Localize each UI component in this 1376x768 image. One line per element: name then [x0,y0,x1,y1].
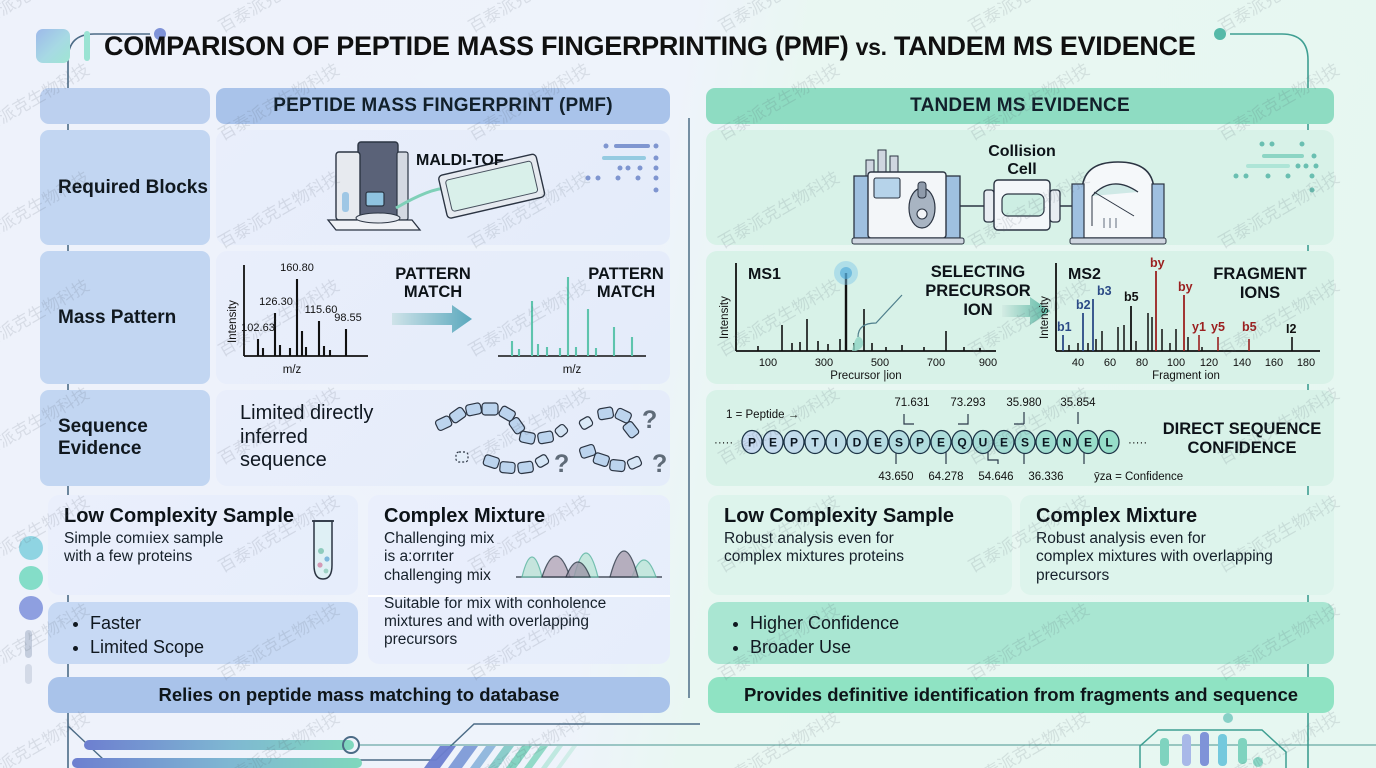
tandem-bullet-list: Higher Confidence Broader Use [708,602,1334,664]
ms2-peak-label-by2: by [1178,280,1193,294]
peptide-note: 1 = Peptide → [726,409,799,421]
title-main: COMPARISON OF PEPTIDE MASS FINGERPRINTIN… [104,31,856,61]
watermark-text: 百泰派克生物科技 [713,704,843,768]
residue-letter: Q [957,436,966,450]
residue-letter: S [895,436,903,450]
residue-letter: E [769,436,777,450]
pattern-match-right-line1: PATTERN [588,265,663,283]
residue-letter: P [790,436,798,450]
question-mark-1: ? [554,450,569,478]
pattern-match-left-line1: PATTERN [395,265,470,283]
row-label-sequence-line1: Sequence [58,416,148,438]
ms1-label: MS1 [748,266,781,283]
residue-letter: E [1000,436,1008,450]
panel-header-pmf: PEPTIDE MASS FINGERPRINT (PMF) [216,88,670,124]
maldi-tof-illustration: MALDI-TOF [216,130,670,245]
tandem-spectra-charts: MS1 Intensity Precursor |ion 100 300 500… [706,251,1334,384]
residue-letter: S [1021,436,1029,450]
residue-letter: U [979,436,988,450]
infographic-root: COMPARISON OF PEPTIDE MASS FINGERPRINTIN… [0,0,1376,768]
ms2-peak-label-b1: b1 [1057,320,1072,334]
ms1-xtick-2: 500 [871,357,889,369]
residue-letter: E [937,436,945,450]
ms1-ylabel: Intensity [719,296,731,339]
tandem-low-complexity-card: Low Complexity Sample Robust analysis ev… [708,495,1012,595]
row-label-mass-pattern: Mass Pattern [40,251,210,384]
watermark-text: 百泰派克生物科技 [463,704,593,768]
ms2-xtick-4: 120 [1200,357,1218,369]
tandem-complex-mixture-card: Complex Mixture Robust analysis even for… [1020,495,1334,595]
watermark-text: 百泰派克生物科技 [1213,704,1343,768]
overlapping-peaks-icon [514,521,664,583]
page-title: COMPARISON OF PEPTIDE MASS FINGERPRINTIN… [104,31,1196,62]
ms2-xtick-3: 100 [1167,357,1185,369]
pmf-complex-note-3: precursors [384,631,670,649]
pmf-complex-note-1: Suitable for mix with conholence [384,595,670,613]
pmf-peak-label-2: 126.30 [259,296,293,308]
gradient-square-icon [36,29,70,63]
ms1-peaks [758,309,980,351]
pmf-sequence-text: Limited directly inferred sequence [240,402,373,473]
ms1-xtick-1: 300 [815,357,833,369]
ms2-peak-label-i2: I2 [1286,322,1296,336]
pmf-sequence-line2: inferred [240,426,373,450]
selecting-precursor-line3: ION [963,301,992,319]
ms2-xtick-6: 160 [1265,357,1283,369]
row-label-sequence-line2: Evidence [58,438,141,460]
tandem-complex-desc-3: precursors [1036,567,1334,585]
tandem-bullet-1: Broader Use [750,636,1334,660]
direct-confidence-line2: CONFIDENCE [1187,439,1296,457]
seq-bottom-value-2: 54.646 [978,471,1013,483]
tandem-footer-bar: Provides definitive identification from … [708,677,1334,713]
leader-dots-right: ····· [1128,437,1147,449]
residue-letter: E [1042,436,1050,450]
confidence-note: ȳza = Confidence [1094,471,1183,483]
residue-letter: N [1063,436,1072,450]
watermark-text: 百泰派克生物科技 [0,704,93,768]
tandem-low-complexity-desc-2: complex mixtures proteins [724,548,1012,566]
ms2-label: MS2 [1068,266,1101,283]
ms2-xtick-1: 60 [1104,357,1116,369]
seq-top-value-3: 35.854 [1060,397,1096,409]
dot-decoration [1234,142,1319,193]
pmf-peak-label-3: 160.80 [280,262,314,274]
dot-decoration [586,144,659,193]
residue-letter: L [1105,436,1112,450]
residue-letter: E [1084,436,1092,450]
ms2-xtick-2: 80 [1136,357,1148,369]
tandem-low-complexity-desc-1: Robust analysis even for [724,530,1012,548]
test-tube-icon [300,517,346,587]
ms2-peak-label-b2: b2 [1076,298,1091,312]
selecting-precursor-line2: PRECURSOR [925,282,1031,300]
ms1-xlabel: Precursor |ion [830,370,901,382]
ms2-ylabel: Intensity [1039,296,1051,339]
pmf-bullet-list: Faster Limited Scope [48,602,358,664]
question-mark-2: ? [642,406,657,434]
column-divider [688,118,690,698]
pmf-bullet-1: Limited Scope [90,636,358,660]
ms2-peak-label-b5b: b5 [1242,320,1257,334]
pmf-sequence-line3: sequence [240,449,373,473]
residue-letter: T [811,436,819,450]
pmf-query-peaks [258,279,346,356]
seq-bottom-value-0: 43.650 [878,471,913,483]
collision-cell-label-1: Collision [988,143,1056,160]
tandem-complex-desc-1: Robust analysis even for [1036,530,1334,548]
question-mark-3: ? [652,450,667,478]
panel-header-tandem: TANDEM MS EVIDENCE [706,88,1334,124]
tandem-ms-instrument-illustration: Collision Cell [706,130,1334,245]
pmf-db-xlabel: m/z [563,364,582,376]
arrow-icon [392,305,472,333]
leader-dots-left: ····· [714,437,733,449]
tandem-bullet-0: Higher Confidence [750,612,1334,636]
seq-bottom-value-1: 64.278 [928,471,963,483]
ms2-peak-label-b5a: b5 [1124,290,1139,304]
residue-letter: P [748,436,756,450]
ms1-xtick-3: 700 [927,357,945,369]
pmf-mass-pattern-cell: Intensity m/z 102.63 126.3 [216,251,670,384]
ms2-peak-label-y1: y1 [1192,320,1206,334]
row-label-sequence-evidence: Sequence Evidence [40,390,210,486]
pmf-low-complexity-card: Low Complexity Sample Simple comıiex sam… [48,495,358,595]
seq-top-value-0: 71.631 [894,397,929,409]
residue-letter: E [874,436,882,450]
pmf-query-ylabel: Intensity [227,300,239,343]
title-tail: TANDEM MS EVIDENCE [887,31,1196,61]
ms2-xlabel: Fragment ion [1152,370,1220,382]
ms2-xtick-0: 40 [1072,357,1084,369]
direct-sequence-diagram: 1 = Peptide → 71.631 73.293 35.980 35.85… [706,390,1334,486]
ms2-minor-peaks [1069,313,1202,351]
page-header: COMPARISON OF PEPTIDE MASS FINGERPRINTIN… [36,18,1340,74]
pmf-query-xlabel: m/z [283,364,302,376]
tandem-complex-mixture-title: Complex Mixture [1036,505,1334,528]
title-vs: vs. [856,34,887,60]
accent-bar-icon [84,31,90,61]
pmf-sequence-evidence-cell: Limited directly inferred sequence [216,390,670,486]
fragment-ions-line2: IONS [1240,284,1280,302]
collision-cell-label-2: Cell [1007,161,1036,178]
maldi-tof-label: MALDI-TOF [416,152,504,169]
watermark-text: 百泰派克生物科技 [963,704,1093,768]
pmf-required-blocks-cell: MALDI-TOF [216,130,670,245]
pmf-peak-label-5: 98.55 [334,312,362,324]
pmf-complex-mixture-card: Complex Mixture Challenging mix is a:orr… [368,495,670,664]
pattern-match-left-line2: MATCH [404,283,462,301]
ms2-xtick-7: 180 [1297,357,1315,369]
pmf-peak-label-4: 115.60 [305,304,338,316]
seq-top-value-2: 35.980 [1006,397,1041,409]
ms1-xtick-4: 900 [979,357,997,369]
ms1-xtick-0: 100 [759,357,777,369]
selecting-precursor-line1: SELECTING [931,263,1025,281]
corner-blank-header [40,88,210,124]
row-label-required-blocks: Required Blocks [40,130,210,245]
pmf-sequence-line1: Limited directly [240,402,373,426]
pmf-complex-note-2: mixtures and with overlapping [384,613,670,631]
ms2-peak-label-by1: by [1150,256,1165,270]
pmf-footer-bar: Relies on peptide mass matching to datab… [48,677,670,713]
ms2-xtick-5: 140 [1233,357,1251,369]
residue-letter: D [853,436,862,450]
card-divider [368,595,670,597]
seq-bottom-value-3: 36.336 [1028,471,1063,483]
ms2-peak-label-b3: b3 [1097,284,1112,298]
tandem-low-complexity-title: Low Complexity Sample [724,505,1012,528]
pmf-peak-label-1: 102.63 [241,322,275,334]
tandem-sequence-evidence-cell: 1 = Peptide → 71.631 73.293 35.980 35.85… [706,390,1334,486]
watermark-text: 百泰派克生物科技 [213,704,343,768]
pattern-match-right-line2: MATCH [597,283,655,301]
tandem-mass-pattern-cell: MS1 Intensity Precursor |ion 100 300 500… [706,251,1334,384]
residue-circles: PEPTIDESPEQUESENEL [742,431,1119,454]
ms2-peak-label-y5: y5 [1211,320,1225,334]
fragment-ions-line1: FRAGMENT [1213,265,1307,283]
broken-peptide-chain-illustration: ? ? ? [428,390,668,486]
tandem-required-blocks-cell: Collision Cell [706,130,1334,245]
residue-letter: I [834,436,837,450]
seq-top-value-1: 73.293 [950,397,985,409]
pmf-bullet-0: Faster [90,612,358,636]
tandem-complex-desc-2: complex mixtures with overlapping [1036,548,1334,566]
direct-confidence-line1: DIRECT SEQUENCE [1163,420,1322,438]
chart-pmf-spectrum-query: Intensity m/z 102.63 126.3 [227,262,368,376]
pmf-spectra-charts: Intensity m/z 102.63 126.3 [216,251,670,384]
residue-letter: P [916,436,924,450]
